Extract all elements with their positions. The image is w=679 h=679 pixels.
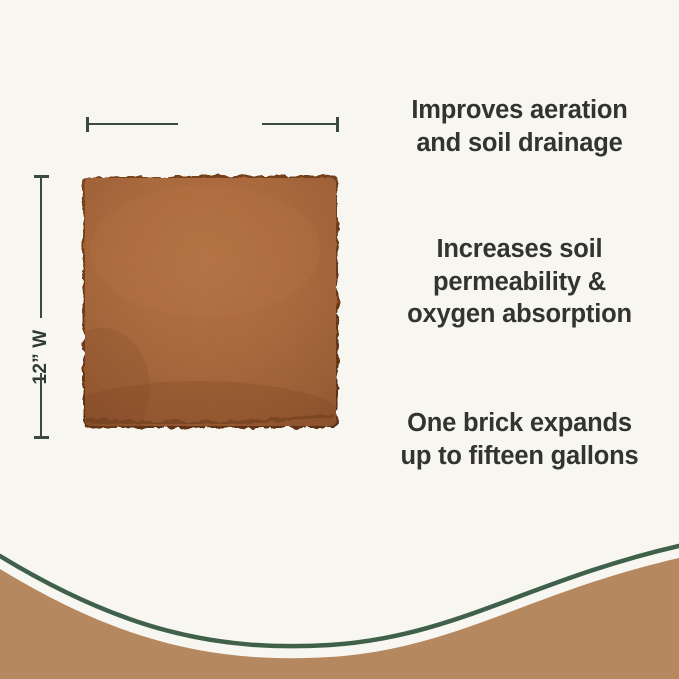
benefit-item-aeration: Improves aeration and soil drainage: [360, 94, 679, 159]
benefit-line: and soil drainage: [360, 127, 679, 160]
benefit-line: Increases soil: [360, 233, 679, 266]
dimension-cap-bottom: [34, 436, 49, 439]
dimension-cap-right: [336, 117, 339, 132]
benefit-line: up to fifteen gallons: [360, 440, 679, 473]
benefit-item-permeability: Increases soil permeability & oxygen abs…: [360, 233, 679, 331]
dimension-line-left: [88, 123, 178, 125]
benefit-item-expansion: One brick expands up to fifteen gallons: [360, 407, 679, 472]
benefits-list: Improves aeration and soil drainage Incr…: [360, 0, 679, 520]
dimension-line-bottom: [40, 373, 42, 436]
product-dimension-diagram: 12” H 12” W: [0, 80, 360, 480]
benefit-line: oxygen absorption: [360, 298, 679, 331]
benefit-line: permeability &: [360, 266, 679, 299]
benefit-line: Improves aeration: [360, 94, 679, 127]
dimension-line-top: [40, 178, 42, 318]
soil-wave-decoration: [0, 514, 679, 679]
dimension-line-right: [262, 123, 336, 125]
coir-brick-image: [80, 173, 341, 431]
benefit-line: One brick expands: [360, 407, 679, 440]
infographic-canvas: 12” H 12” W: [0, 0, 679, 679]
